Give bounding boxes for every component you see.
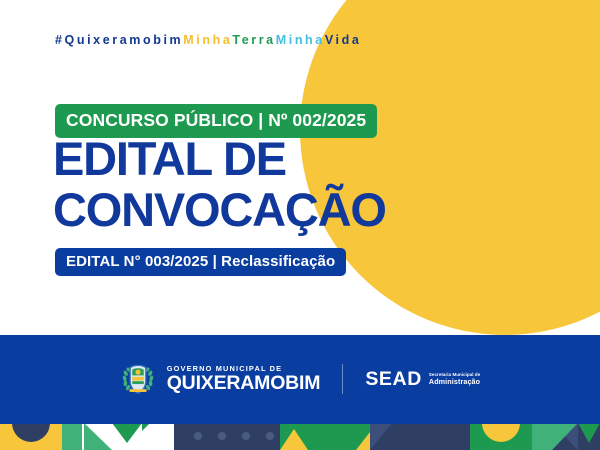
sead-acronym: SEAD bbox=[365, 368, 422, 391]
page-title: EDITAL DE CONVOCAÇÃO bbox=[53, 133, 386, 235]
hashtag-part-terra: Terra bbox=[232, 33, 275, 47]
title-line-2: CONVOCAÇÃO bbox=[53, 184, 386, 235]
footer-divider bbox=[342, 364, 343, 394]
hashtag-part-vida: Vida bbox=[325, 33, 362, 47]
sead-logo: SEAD Secretaria Municipal de Administraç… bbox=[365, 368, 480, 391]
hashtag-part-minha-2: Minha bbox=[276, 33, 325, 47]
municipality-name: QUIXERAMOBIM bbox=[167, 374, 321, 394]
hashtag-slogan: #QuixeramobimMinhaTerraMinhaVida bbox=[55, 33, 361, 47]
sead-subtitle: Secretaria Municipal de Administração bbox=[429, 373, 480, 385]
hashtag-part-minha-1: Minha bbox=[183, 33, 232, 47]
coat-of-arms-icon bbox=[120, 361, 156, 397]
sead-subtitle-bottom: Administração bbox=[429, 378, 480, 386]
hashtag-part-quixeramobim: #Quixeramobim bbox=[55, 33, 183, 47]
government-label: GOVERNO MUNICIPAL DE bbox=[167, 365, 321, 372]
government-name-block: GOVERNO MUNICIPAL DE QUIXERAMOBIM bbox=[167, 365, 321, 394]
footer-logo-group: GOVERNO MUNICIPAL DE QUIXERAMOBIM SEAD S… bbox=[120, 361, 481, 397]
footer-bar: GOVERNO MUNICIPAL DE QUIXERAMOBIM SEAD S… bbox=[0, 335, 600, 423]
pattern-graphic bbox=[0, 423, 600, 450]
edital-poster: #QuixeramobimMinhaTerraMinhaVida CONCURS… bbox=[0, 0, 600, 450]
bottom-decorative-strip bbox=[0, 423, 600, 450]
title-line-1: EDITAL DE bbox=[53, 133, 386, 184]
edital-number-badge: EDITAL N° 003/2025 | Reclassificação bbox=[55, 248, 346, 276]
